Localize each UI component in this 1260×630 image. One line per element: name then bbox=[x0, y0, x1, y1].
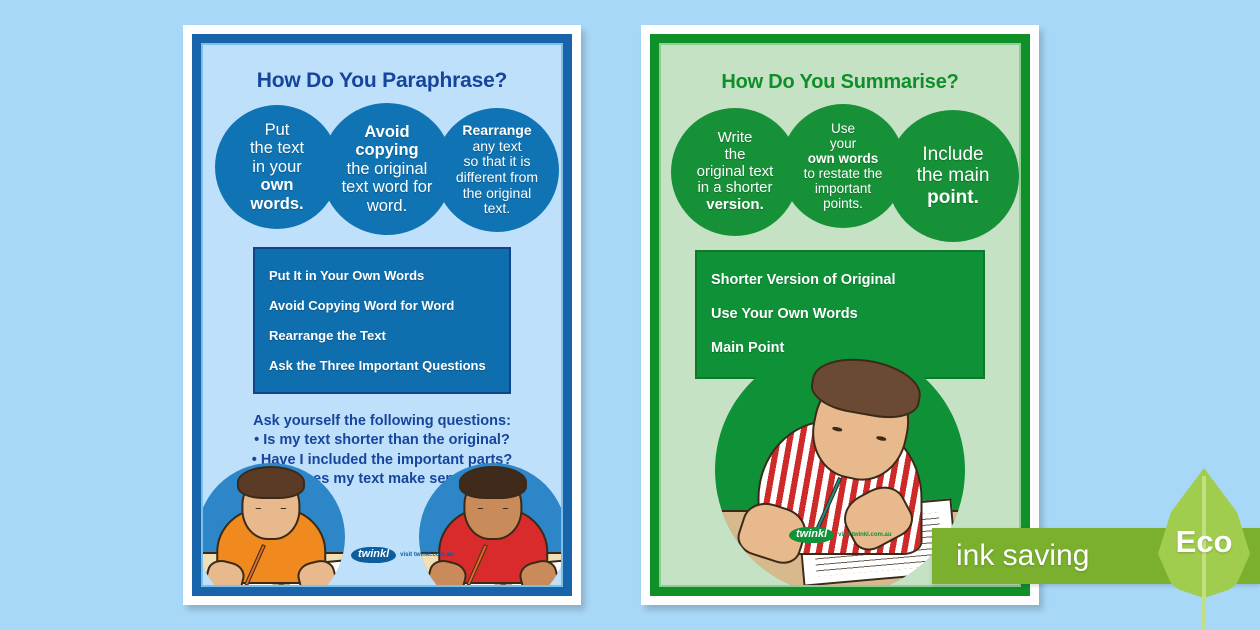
bubble-line: different from bbox=[456, 170, 538, 186]
bubble-line-bold: version. bbox=[706, 196, 764, 213]
bubble-main-point: Include the main point. bbox=[887, 110, 1019, 242]
ink-saving-label: ink saving bbox=[956, 539, 1089, 573]
bubble-avoid-copying: Avoid copying the original text word for… bbox=[321, 103, 453, 235]
poster-paraphrase-inner: How Do You Paraphrase? Put the text in y… bbox=[192, 34, 572, 596]
list-item: Avoid Copying Word for Word bbox=[269, 290, 495, 320]
page-title: How Do You Paraphrase? bbox=[203, 69, 561, 93]
bubble-line: the main bbox=[917, 165, 990, 186]
bubble-row: Put the text in your own words. Avoid co… bbox=[203, 103, 561, 235]
bubble-rearrange: Rearrange any text so that it is differe… bbox=[435, 108, 559, 232]
bubble-line: in a shorter bbox=[697, 180, 774, 197]
bubble-line: in your bbox=[250, 158, 304, 176]
bubble-line: points. bbox=[804, 196, 883, 211]
eye bbox=[832, 426, 842, 431]
bubble-line: your bbox=[804, 136, 883, 151]
bubble-line: text word for bbox=[342, 178, 433, 196]
list-item: Use Your Own Words bbox=[711, 297, 969, 331]
illustration-girl-writing bbox=[419, 463, 561, 585]
twinkl-url: visit twinkl.com.au bbox=[400, 552, 453, 558]
bubble-line-bold: own words bbox=[808, 151, 879, 166]
steps-list: Put It in Your Own Words Avoid Copying W… bbox=[253, 247, 511, 394]
eye bbox=[502, 508, 508, 510]
eye bbox=[256, 508, 262, 510]
hair bbox=[237, 466, 305, 499]
bubble-line-bold: Avoid bbox=[364, 123, 409, 141]
twinkl-wordmark: twinkl bbox=[789, 527, 834, 543]
bubble-own-words-restate: Use your own words to restate the import… bbox=[781, 104, 905, 228]
bubble-line-bold: words. bbox=[250, 195, 303, 213]
bubble-line: to restate the bbox=[804, 166, 883, 181]
bubble-line: the original bbox=[342, 160, 433, 178]
bubble-row: Write the original text in a shorter ver… bbox=[661, 104, 1019, 236]
bubble-line: word. bbox=[342, 197, 433, 215]
bubble-line: so that it is bbox=[456, 154, 538, 170]
list-item: Ask the Three Important Questions bbox=[269, 350, 495, 380]
bubble-line: important bbox=[804, 181, 883, 196]
bubble-line: any text bbox=[456, 139, 538, 155]
poster-content-area: How Do You Summarise? Write the original… bbox=[661, 45, 1019, 585]
page-title: How Do You Summarise? bbox=[661, 71, 1019, 94]
poster-paraphrase[interactable]: How Do You Paraphrase? Put the text in y… bbox=[183, 25, 581, 605]
bubble-line: Use bbox=[804, 121, 883, 136]
poster-content-area: How Do You Paraphrase? Put the text in y… bbox=[203, 45, 561, 585]
bubble-line: the original bbox=[456, 186, 538, 202]
eye bbox=[876, 436, 886, 441]
bubble-line: Put bbox=[250, 121, 304, 139]
eco-label: Eco bbox=[1176, 524, 1233, 560]
illustration-boy-writing bbox=[203, 463, 345, 585]
twinkl-logo[interactable]: twinkl visit twinkl.com.au bbox=[789, 527, 892, 543]
illustration-row bbox=[203, 459, 561, 585]
bubble-line-bold: own bbox=[261, 176, 294, 194]
question-item: • Is my text shorter than the original? bbox=[203, 431, 561, 450]
bubble-shorter-version: Write the original text in a shorter ver… bbox=[671, 108, 799, 236]
bubble-line-bold: Rearrange bbox=[462, 122, 531, 138]
bubble-line: the bbox=[697, 147, 774, 164]
list-item: Shorter Version of Original bbox=[711, 263, 969, 297]
bubble-line: Write bbox=[697, 130, 774, 147]
bubble-line-bold: copying bbox=[355, 141, 418, 159]
eco-leaf-icon: Eco bbox=[1152, 468, 1256, 630]
hair bbox=[459, 466, 527, 499]
bubble-line-bold: point. bbox=[927, 187, 979, 208]
bubble-line: Include bbox=[917, 144, 990, 165]
poster-summarise-inner: How Do You Summarise? Write the original… bbox=[650, 34, 1030, 596]
poster-summarise[interactable]: How Do You Summarise? Write the original… bbox=[641, 25, 1039, 605]
illustration-boy-striped-shirt bbox=[715, 345, 965, 585]
list-item: Put It in Your Own Words bbox=[269, 260, 495, 290]
bubble-line: the text bbox=[250, 139, 304, 157]
list-item: Rearrange the Text bbox=[269, 320, 495, 350]
twinkl-url: visit twinkl.com.au bbox=[838, 532, 891, 538]
eye bbox=[280, 508, 286, 510]
bubble-line: text. bbox=[456, 201, 538, 217]
bubble-line: original text bbox=[697, 164, 774, 181]
twinkl-logo[interactable]: twinkl visit twinkl.com.au bbox=[351, 547, 454, 563]
twinkl-wordmark: twinkl bbox=[351, 547, 396, 563]
questions-heading: Ask yourself the following questions: bbox=[203, 412, 561, 431]
eye bbox=[478, 508, 484, 510]
